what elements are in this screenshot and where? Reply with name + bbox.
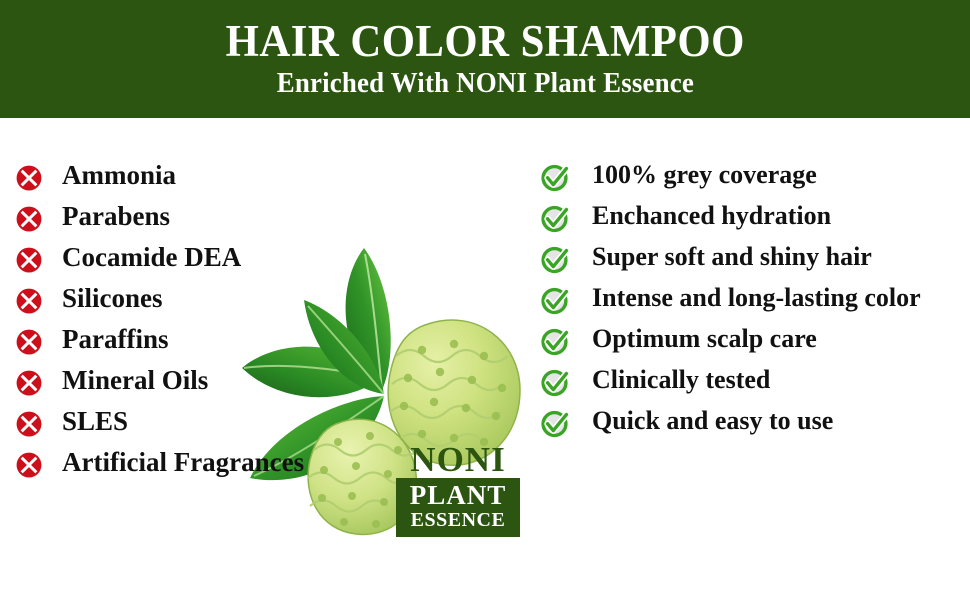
list-item: SLES xyxy=(14,406,314,439)
list-item-label: Artificial Fragrances xyxy=(44,447,304,478)
list-item: Quick and easy to use xyxy=(540,406,964,439)
green-check-icon xyxy=(540,204,570,234)
list-item-label: Quick and easy to use xyxy=(570,406,833,436)
list-item: Artificial Fragrances xyxy=(14,447,314,480)
red-cross-icon xyxy=(14,245,44,275)
list-item-label: Cocamide DEA xyxy=(44,242,241,273)
list-item: Parabens xyxy=(14,201,314,234)
list-item-label: Silicones xyxy=(44,283,163,314)
list-item-label: Paraffins xyxy=(44,324,168,355)
green-check-icon xyxy=(540,163,570,193)
list-item: Cocamide DEA xyxy=(14,242,314,275)
noni-logo-plant: PLANT xyxy=(402,482,514,510)
list-item: Optimum scalp care xyxy=(540,324,964,357)
green-check-icon xyxy=(540,286,570,316)
list-item: Ammonia xyxy=(14,160,314,193)
poster-header: HAIR COLOR SHAMPOO Enriched With NONI Pl… xyxy=(0,0,970,118)
noni-logo: NONI PLANT ESSENCE xyxy=(396,442,520,537)
list-item: Intense and long-lasting color xyxy=(540,283,964,316)
red-cross-icon xyxy=(14,409,44,439)
list-item-label: Ammonia xyxy=(44,160,176,191)
list-item-label: SLES xyxy=(44,406,128,437)
product-feature-poster: HAIR COLOR SHAMPOO Enriched With NONI Pl… xyxy=(0,0,970,600)
noni-logo-word: NONI xyxy=(396,442,520,477)
red-cross-icon xyxy=(14,163,44,193)
list-item-label: Enchanced hydration xyxy=(570,201,831,231)
list-item-label: Optimum scalp care xyxy=(570,324,817,354)
list-item-label: Parabens xyxy=(44,201,170,232)
green-check-icon xyxy=(540,245,570,275)
list-item-label: Clinically tested xyxy=(570,365,770,395)
list-item: Enchanced hydration xyxy=(540,201,964,234)
list-item: Mineral Oils xyxy=(14,365,314,398)
noni-logo-essence: ESSENCE xyxy=(402,510,514,531)
list-item-label: 100% grey coverage xyxy=(570,160,817,190)
list-item-label: Mineral Oils xyxy=(44,365,208,396)
list-item: Clinically tested xyxy=(540,365,964,398)
red-cross-icon xyxy=(14,450,44,480)
benefits-list: 100% grey coverage Enchanced hydration xyxy=(540,160,964,447)
red-cross-icon xyxy=(14,286,44,316)
red-cross-icon xyxy=(14,368,44,398)
page-subtitle: Enriched With NONI Plant Essence xyxy=(276,69,693,98)
red-cross-icon xyxy=(14,204,44,234)
list-item: Super soft and shiny hair xyxy=(540,242,964,275)
list-item-label: Super soft and shiny hair xyxy=(570,242,872,272)
red-cross-icon xyxy=(14,327,44,357)
noni-logo-box: PLANT ESSENCE xyxy=(396,478,520,537)
list-item: 100% grey coverage xyxy=(540,160,964,193)
list-item: Paraffins xyxy=(14,324,314,357)
green-check-icon xyxy=(540,409,570,439)
list-item-label: Intense and long-lasting color xyxy=(570,283,921,313)
green-check-icon xyxy=(540,327,570,357)
green-check-icon xyxy=(540,368,570,398)
list-item: Silicones xyxy=(14,283,314,316)
free-from-list: Ammonia Parabens Cocamide DEA xyxy=(14,160,314,488)
page-title: HAIR COLOR SHAMPOO xyxy=(225,19,744,65)
